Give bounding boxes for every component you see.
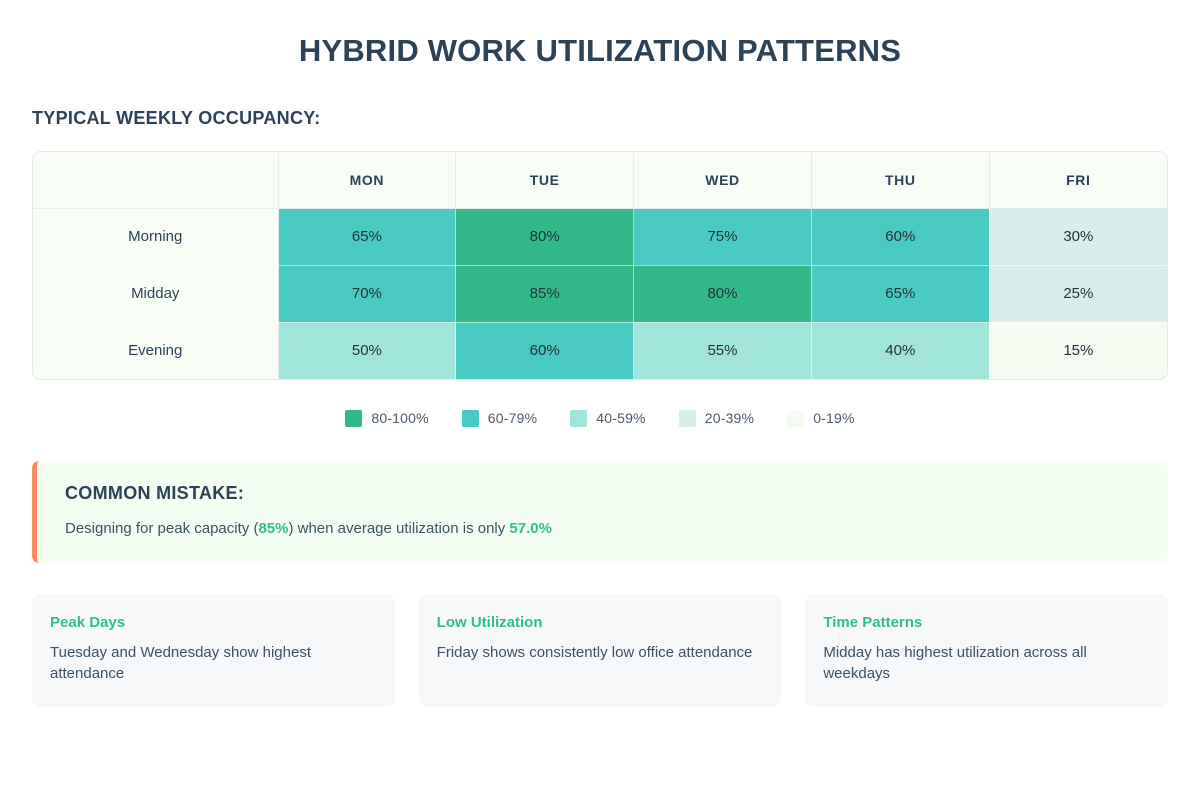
row-label-midday: Midday [33,265,278,322]
legend-label: 40-59% [596,410,645,426]
legend-item: 40-59% [570,410,645,427]
column-header-tue: TUE [456,152,634,209]
column-header-mon: MON [278,152,456,209]
table-header-row: MONTUEWEDTHUFRI [33,152,1167,209]
occupancy-table: MONTUEWEDTHUFRI Morning65%80%75%60%30%Mi… [33,152,1167,379]
legend-swatch-icon [679,410,696,427]
insight-cards: Peak DaysTuesday and Wednesday show high… [32,594,1168,708]
callout-title: COMMON MISTAKE: [65,483,1140,504]
page-root: HYBRID WORK UTILIZATION PATTERNS TYPICAL… [0,0,1200,800]
legend-swatch-icon [787,410,804,427]
heatmap-cell: 30% [989,208,1167,265]
legend-swatch-icon [462,410,479,427]
heatmap-cell: 65% [278,208,456,265]
insight-card-title: Peak Days [50,614,377,631]
heatmap-cell: 70% [278,265,456,322]
table-corner-cell [33,152,278,209]
legend-label: 80-100% [371,410,428,426]
insight-card-text: Friday shows consistently low office att… [437,642,764,664]
legend-item: 80-100% [345,410,428,427]
heatmap-cell: 15% [989,322,1167,379]
legend-item: 20-39% [679,410,754,427]
occupancy-heatmap: MONTUEWEDTHUFRI Morning65%80%75%60%30%Mi… [32,151,1168,380]
column-header-fri: FRI [989,152,1167,209]
heatmap-cell: 75% [634,208,812,265]
heatmap-cell: 50% [278,322,456,379]
section-label: TYPICAL WEEKLY OCCUPANCY: [32,69,1168,129]
legend-label: 0-19% [813,410,854,426]
heatmap-cell: 80% [456,208,634,265]
heatmap-cell: 40% [811,322,989,379]
column-header-wed: WED [634,152,812,209]
insight-card-title: Time Patterns [823,614,1150,631]
insight-card-title: Low Utilization [437,614,764,631]
heatmap-cell: 65% [811,265,989,322]
heatmap-cell: 80% [634,265,812,322]
heatmap-cell: 25% [989,265,1167,322]
page-title: HYBRID WORK UTILIZATION PATTERNS [32,0,1168,69]
legend-item: 60-79% [462,410,537,427]
peak-capacity-value: 85% [258,520,288,537]
heatmap-cell: 85% [456,265,634,322]
table-row: Morning65%80%75%60%30% [33,208,1167,265]
legend-label: 20-39% [705,410,754,426]
heatmap-cell: 60% [456,322,634,379]
table-body: Morning65%80%75%60%30%Midday70%85%80%65%… [33,208,1167,379]
legend-swatch-icon [345,410,362,427]
heatmap-cell: 55% [634,322,812,379]
average-utilization-value: 57.0% [509,520,552,537]
row-label-morning: Morning [33,208,278,265]
legend-item: 0-19% [787,410,854,427]
common-mistake-callout: COMMON MISTAKE: Designing for peak capac… [32,461,1168,563]
column-header-thu: THU [811,152,989,209]
legend-label: 60-79% [488,410,537,426]
heatmap-legend: 80-100%60-79%40-59%20-39%0-19% [32,410,1168,427]
row-label-evening: Evening [33,322,278,379]
legend-swatch-icon [570,410,587,427]
insight-card-text: Tuesday and Wednesday show highest atten… [50,642,377,686]
callout-text-before: Designing for peak capacity ( [65,520,258,537]
table-header: MONTUEWEDTHUFRI [33,152,1167,209]
insight-card-text: Midday has highest utilization across al… [823,642,1150,686]
callout-body: Designing for peak capacity (85%) when a… [65,518,1140,539]
heatmap-cell: 60% [811,208,989,265]
table-row: Evening50%60%55%40%15% [33,322,1167,379]
insight-card: Peak DaysTuesday and Wednesday show high… [32,594,395,708]
insight-card: Time PatternsMidday has highest utilizat… [805,594,1168,708]
table-row: Midday70%85%80%65%25% [33,265,1167,322]
insight-card: Low UtilizationFriday shows consistently… [419,594,782,708]
callout-text-middle: ) when average utilization is only [288,520,509,537]
